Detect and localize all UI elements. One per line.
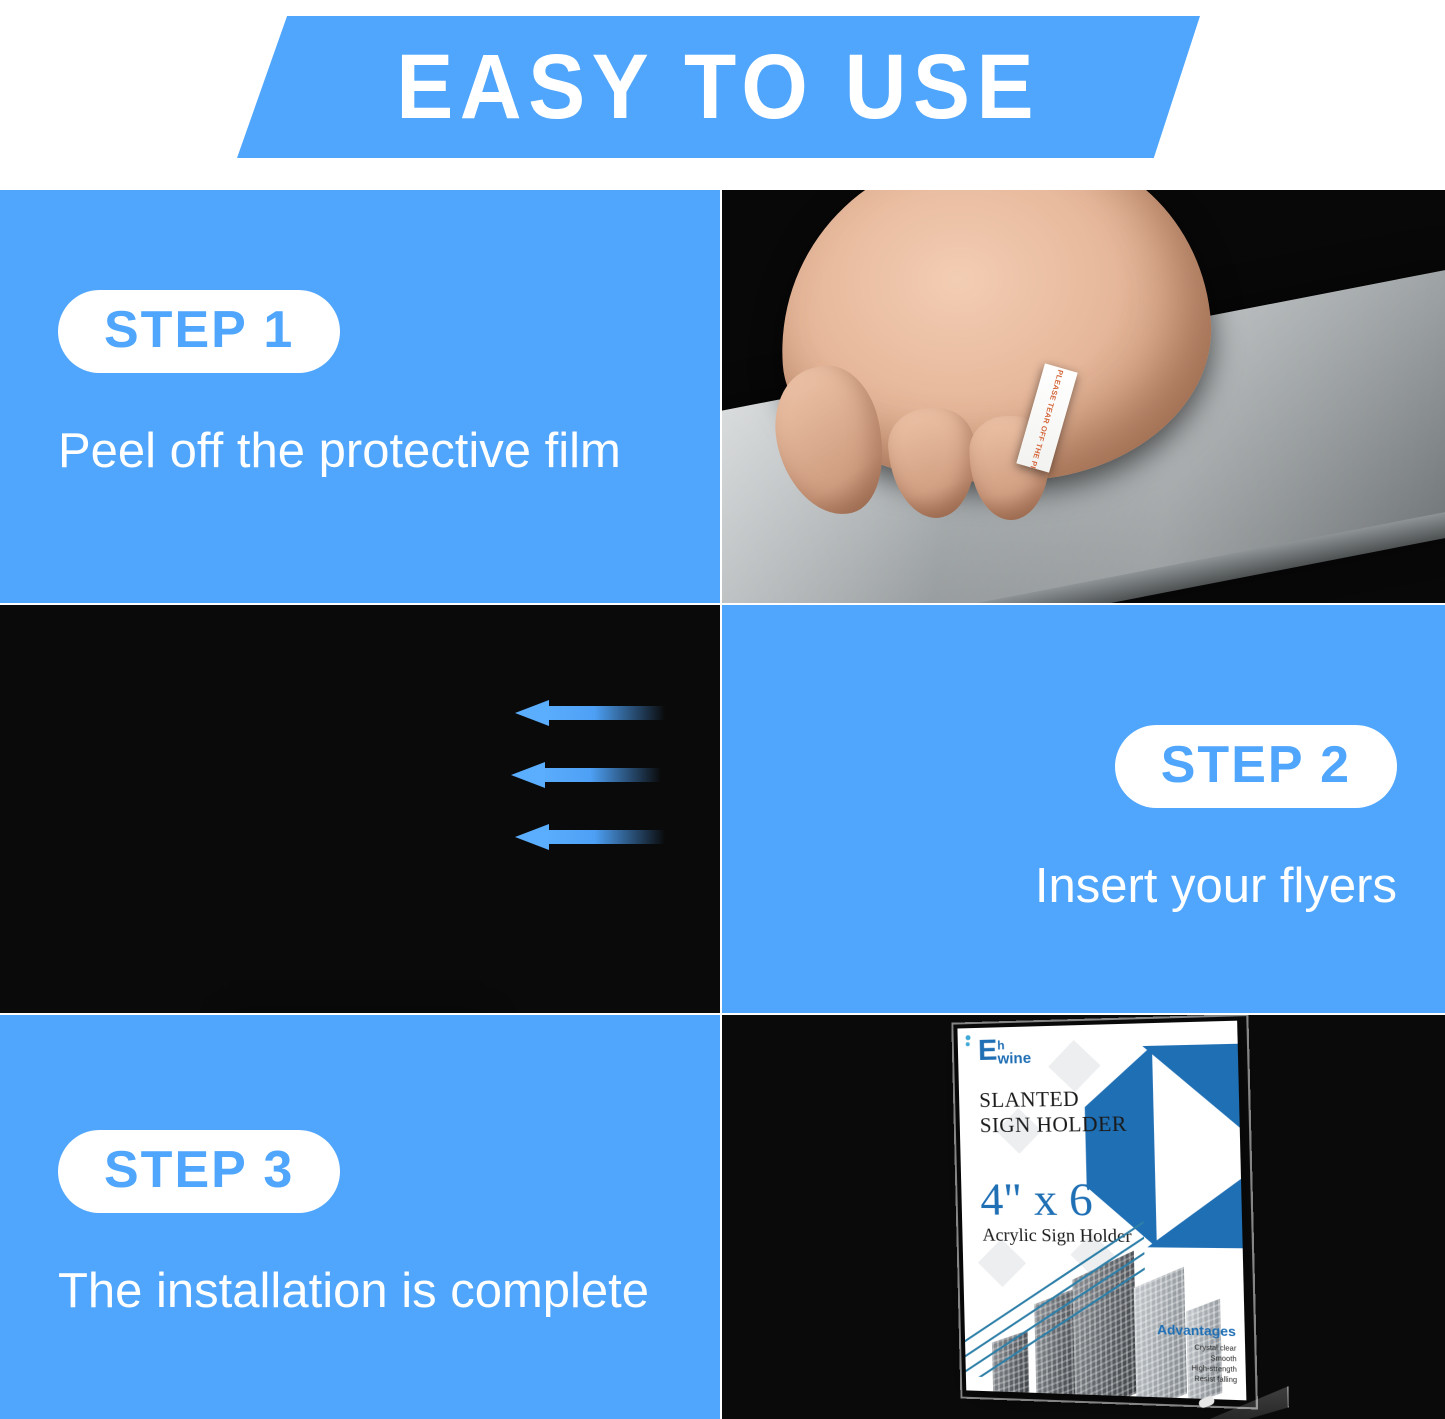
step1-badge: STEP 1 <box>58 290 340 373</box>
page-title: EASY TO USE <box>397 41 1041 133</box>
peel-photo: PLEASE TEAR OFF THE PROTECTIVE FILM BEFO… <box>722 190 1445 603</box>
flyer-title-line1: SLANTED <box>979 1085 1127 1113</box>
header: EASY TO USE <box>0 0 1445 190</box>
brand-logo: E h wine <box>978 1039 1032 1067</box>
arrow-left-icon <box>511 762 661 788</box>
advantages-block: Advantages Crystal clear Smooth High-str… <box>1157 1323 1237 1387</box>
arrow-left-icon <box>515 824 665 850</box>
panel-step1-photo: PLEASE TEAR OFF THE PROTECTIVE FILM BEFO… <box>722 190 1445 603</box>
header-banner: EASY TO USE <box>237 16 1200 158</box>
flyer-title-line2: SIGN HOLDER <box>980 1112 1128 1140</box>
arrow-left-icon <box>515 700 665 726</box>
panel-step1-text: STEP 1 Peel off the protective film <box>0 190 720 603</box>
sign-holder-standing: E h wine SLANTED SIGN HOLDER 4" x 6" Acr… <box>957 1022 1248 1407</box>
logo-letter-e: E <box>978 1040 998 1064</box>
step3-block: STEP 3 The installation is complete <box>58 1130 649 1319</box>
infographic-page: EASY TO USE STEP 1 Peel off the protecti… <box>0 0 1445 1419</box>
advantages-list: Crystal clear Smooth High-strength Resis… <box>1157 1342 1237 1387</box>
panel-step2-photo: E h wine SLANTED SIGN HOLDER 4" x 6" Acr… <box>0 605 720 1013</box>
step3-badge: STEP 3 <box>58 1130 340 1213</box>
logo-dots-icon <box>966 1035 971 1049</box>
advantages-heading: Advantages <box>1157 1323 1236 1338</box>
diamond-decor <box>1048 1040 1100 1092</box>
logo-words: h wine <box>997 1039 1031 1067</box>
panel-step3-text: STEP 3 The installation is complete <box>0 1015 720 1419</box>
step3-caption: The installation is complete <box>58 1265 649 1319</box>
panel-step2-text: STEP 2 Insert your flyers <box>722 605 1445 1013</box>
step1-caption: Peel off the protective film <box>58 425 621 479</box>
flyer-artwork: E h wine SLANTED SIGN HOLDER 4" x 6" Acr… <box>957 1021 1246 1401</box>
step2-caption: Insert your flyers <box>1035 860 1397 914</box>
logo-wine: wine <box>997 1051 1031 1067</box>
panel-step3-photo: E h wine SLANTED SIGN HOLDER 4" x 6" Acr… <box>722 1015 1445 1419</box>
step1-block: STEP 1 Peel off the protective film <box>58 290 621 479</box>
diagonal-lines-decor <box>957 1188 1147 1382</box>
step2-block: STEP 2 Insert your flyers <box>1035 725 1397 914</box>
insert-arrows <box>505 700 675 890</box>
flyer-title: SLANTED SIGN HOLDER <box>979 1085 1127 1139</box>
steps-grid: STEP 1 Peel off the protective film PLEA… <box>0 190 1445 1419</box>
step2-badge: STEP 2 <box>1115 725 1397 808</box>
